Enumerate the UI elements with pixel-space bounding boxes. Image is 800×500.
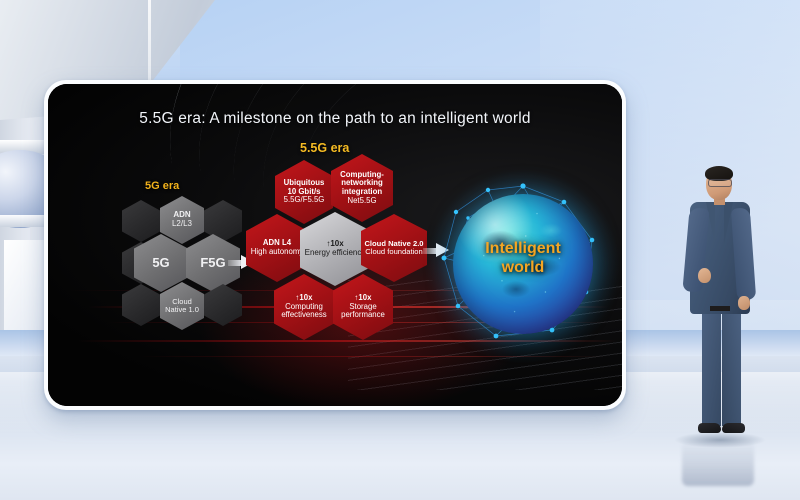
intelligent-world-line2: world <box>436 259 610 278</box>
presenter-figure <box>676 168 762 458</box>
presenter-shadow <box>674 432 766 448</box>
presenter-hand-right <box>738 296 750 310</box>
presenter-shoe-left <box>698 423 721 433</box>
presenter-leg-right <box>722 310 741 426</box>
hex-ubiquitous-line3: 5.5G/F5.5G <box>284 196 325 205</box>
presenter-belt <box>710 306 730 311</box>
hex-5g-label: 5G <box>152 256 169 271</box>
hex-f5g-label: F5G <box>200 256 225 271</box>
hex-storage-performance-line3: performance <box>341 311 385 320</box>
presenter-shoe-right <box>722 423 745 433</box>
presenter-glasses <box>708 179 732 187</box>
intelligent-world-label: Intelligent world <box>436 240 610 278</box>
hex-cloud-native-2-line2: Cloud foundation <box>365 248 422 257</box>
presentation-slide[interactable]: 5.5G era: A milestone on the path to an … <box>48 84 622 406</box>
presenter-leg-left <box>702 310 721 426</box>
hex-adn-l4-line2: High autonomy <box>251 248 303 257</box>
hex-cloud-native-1-line2: Native 1.0 <box>165 306 199 314</box>
era-55g-label: 5.5G era <box>300 141 349 155</box>
hex-adn-l2l3-line2: L2/L3 <box>172 220 192 229</box>
hex-energy-efficiency-label: Energy efficiency <box>305 249 366 258</box>
intelligent-world-line1: Intelligent <box>436 240 610 259</box>
slide-title: 5.5G era: A milestone on the path to an … <box>48 110 622 128</box>
era-5g-label: 5G era <box>145 180 179 192</box>
presentation-scene: 5.5G era: A milestone on the path to an … <box>0 0 800 500</box>
presenter-hand-left <box>698 268 711 283</box>
hex-cni-line4: Net5.5G <box>347 197 376 206</box>
hex-computing-effectiveness-line3: effectiveness <box>281 311 326 320</box>
intelligent-world-globe[interactable]: Intelligent world <box>436 180 610 354</box>
